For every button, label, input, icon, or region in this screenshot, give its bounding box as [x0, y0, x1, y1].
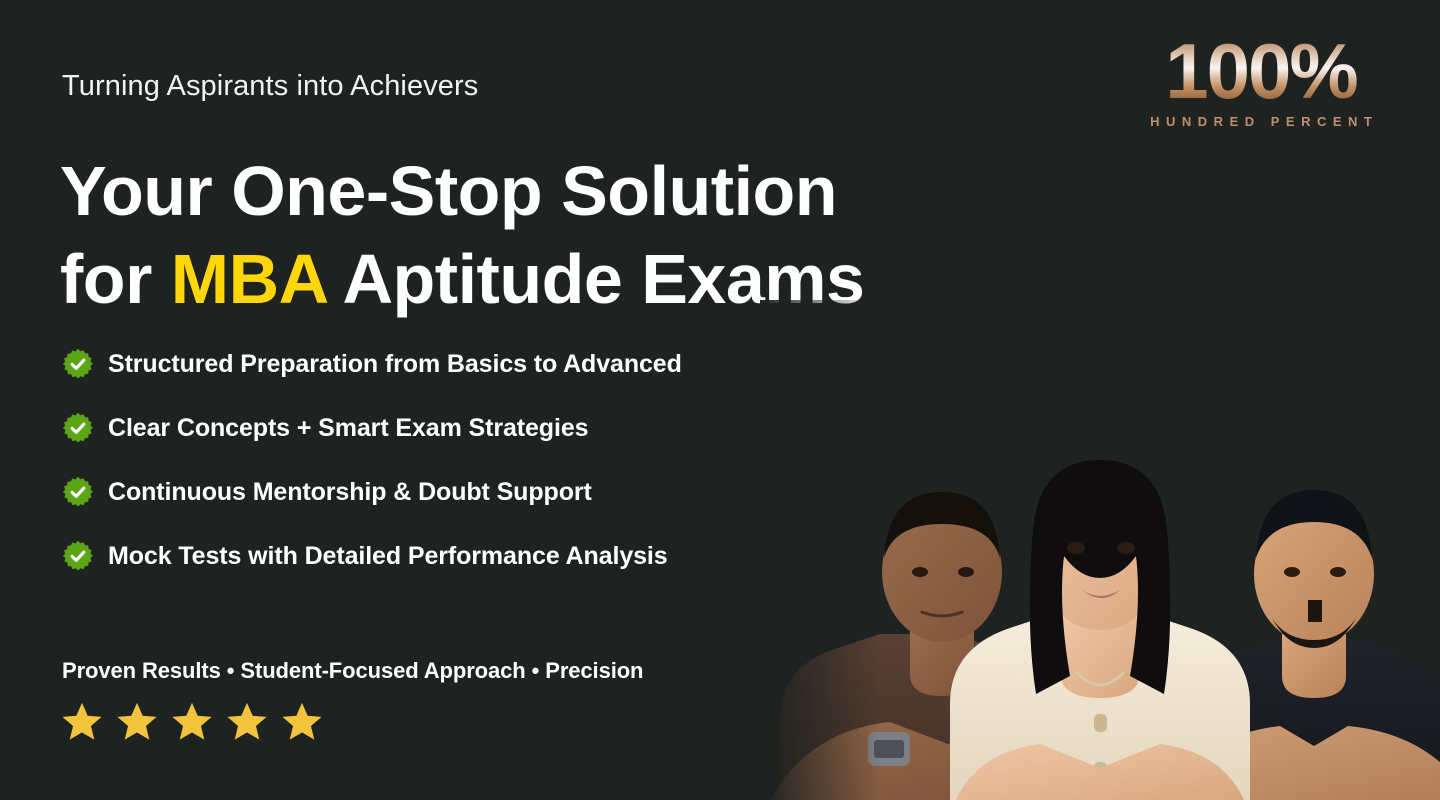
- page-title: Your One-Stop Solution for MBA Aptitude …: [60, 148, 864, 323]
- star-rating: [60, 700, 324, 744]
- promo-banner: 100% HUNDRED PERCENT Turning Aspirants i…: [0, 0, 1440, 800]
- headline-line-1: Your One-Stop Solution: [60, 152, 837, 230]
- check-badge-icon: [62, 412, 94, 444]
- students-photo: [760, 300, 1440, 800]
- feature-label: Mock Tests with Detailed Performance Ana…: [108, 542, 668, 571]
- check-badge-icon: [62, 476, 94, 508]
- person-center: [950, 460, 1250, 800]
- list-item: Mock Tests with Detailed Performance Ana…: [62, 540, 682, 572]
- person-right: [1164, 490, 1440, 800]
- star-icon: [225, 700, 269, 744]
- star-icon: [115, 700, 159, 744]
- brand-logo: 100% HUNDRED PERCENT: [1126, 34, 1396, 129]
- star-icon: [170, 700, 214, 744]
- feature-list: Structured Preparation from Basics to Ad…: [62, 348, 682, 572]
- feature-label: Clear Concepts + Smart Exam Strategies: [108, 414, 588, 443]
- list-item: Clear Concepts + Smart Exam Strategies: [62, 412, 682, 444]
- list-item: Structured Preparation from Basics to Ad…: [62, 348, 682, 380]
- headline-line-2-suffix: Aptitude Exams: [326, 240, 864, 318]
- feature-label: Continuous Mentorship & Doubt Support: [108, 478, 592, 507]
- person-left: [770, 492, 1126, 800]
- list-item: Continuous Mentorship & Doubt Support: [62, 476, 682, 508]
- star-icon: [280, 700, 324, 744]
- tagline: Turning Aspirants into Achievers: [62, 70, 478, 103]
- headline-accent-mba: MBA: [171, 240, 326, 318]
- check-badge-icon: [62, 348, 94, 380]
- check-badge-icon: [62, 540, 94, 572]
- logo-subtitle: HUNDRED PERCENT: [1126, 114, 1396, 129]
- proof-line: Proven Results • Student-Focused Approac…: [62, 658, 643, 684]
- feature-label: Structured Preparation from Basics to Ad…: [108, 350, 682, 379]
- headline-line-2-prefix: for: [60, 240, 171, 318]
- star-icon: [60, 700, 104, 744]
- logo-mark-text: 100%: [1165, 34, 1357, 108]
